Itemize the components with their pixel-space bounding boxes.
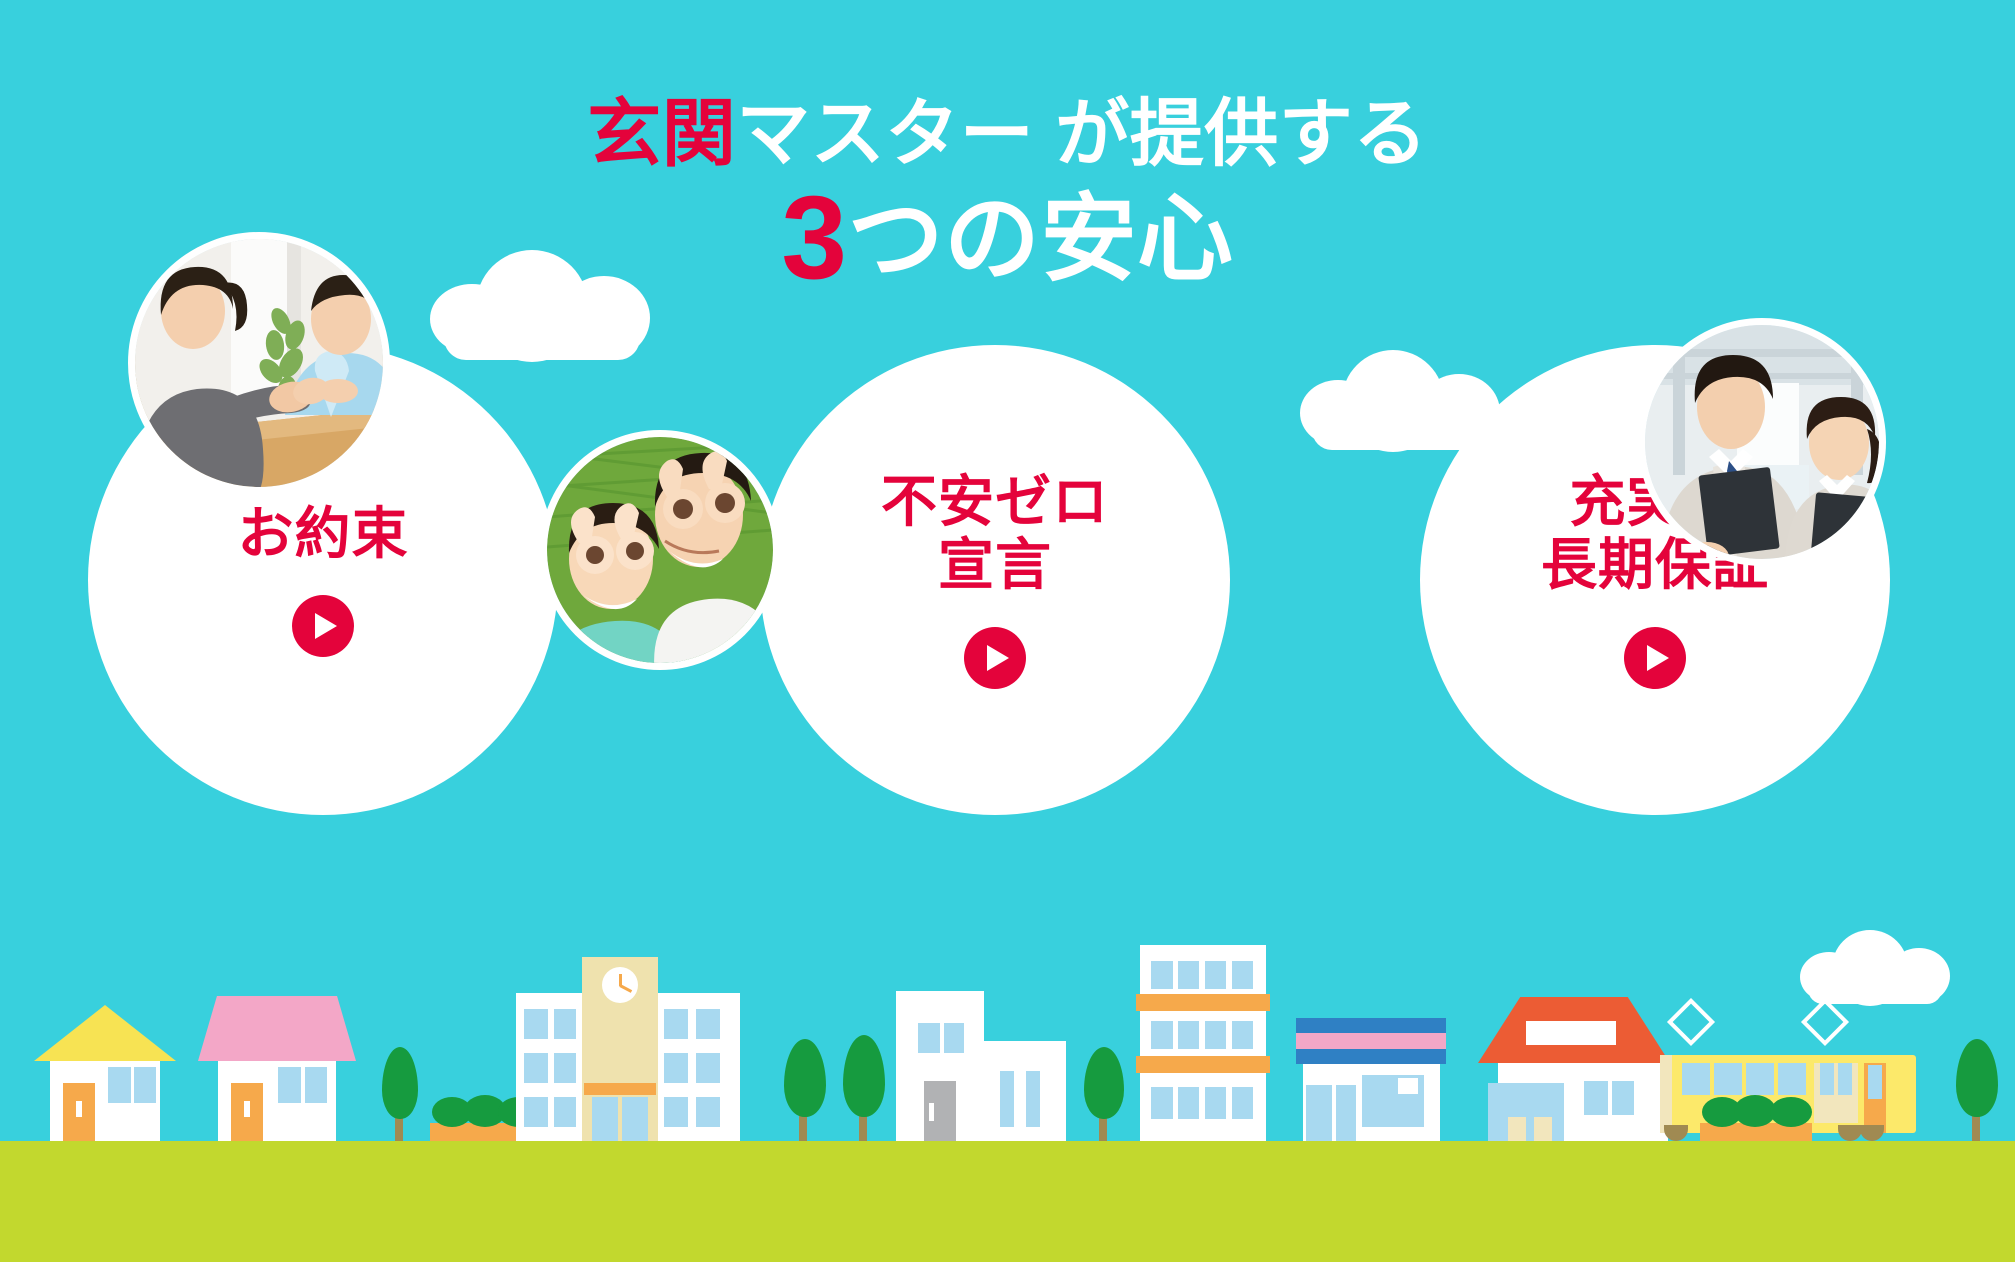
window [524,1053,548,1083]
window [1000,1071,1014,1127]
window [305,1067,327,1103]
door-handle [929,1103,934,1121]
door-handle [76,1101,82,1117]
floor-band [1136,1056,1270,1073]
awning-stripe-pink [1296,1033,1446,1049]
roof-trapezoid [198,996,356,1061]
entrance-door [592,1097,618,1141]
tree [1080,1031,1124,1141]
window [134,1067,156,1103]
tree [1952,1025,1998,1141]
feature-label-line2: 宣言 [881,534,1109,597]
house-yellow-roof [34,989,176,1141]
window [1151,1021,1173,1049]
house-pink-roof [198,991,356,1141]
display-sign [1398,1078,1418,1094]
family-photo-illustration [547,437,773,663]
window [1205,1087,1226,1119]
window [918,1023,940,1053]
window [1205,1021,1226,1049]
window [1232,1087,1253,1119]
window [1151,1087,1173,1119]
window [1026,1071,1040,1127]
play-icon-promise[interactable] [292,595,354,657]
staff-photo-illustration [1645,325,1879,559]
play-icon-long-warranty[interactable] [1624,627,1686,689]
photo-family-children [540,430,780,670]
tree-crown [382,1047,418,1119]
play-icon-zero-anxiety[interactable] [964,627,1026,689]
bush [1770,1097,1812,1127]
headline-anshin: 安心 [1041,186,1234,293]
tram-wheel [1860,1125,1884,1141]
window [108,1067,131,1103]
window [944,1023,964,1053]
door-handle [244,1101,250,1117]
tram-wheel [1664,1125,1688,1141]
window [1205,961,1226,989]
window [1612,1081,1634,1115]
window [554,1053,576,1083]
floor-band [1136,994,1270,1011]
play-triangle-icon [987,645,1009,671]
window [278,1067,301,1103]
feature-label-line1: お約束 [238,503,409,566]
office-wing [980,1041,1066,1141]
garage-panel [1534,1117,1552,1141]
window [664,1009,688,1039]
tree [780,1026,824,1141]
house-orange-roof [1478,991,1670,1141]
window [696,1009,720,1039]
awning-stripe-blue [1296,1018,1446,1033]
headline-number: 3 [781,172,847,304]
play-triangle-icon [1647,645,1669,671]
photo-inner [547,437,773,663]
entrance-awning [584,1083,656,1095]
cloud-icon-right [1800,930,1950,1004]
tree-crown [1956,1039,1998,1117]
window [664,1053,688,1083]
feature-label-promise: お約束 [238,503,409,566]
tram-wheel [1838,1125,1862,1141]
window [524,1097,548,1127]
window [664,1097,688,1127]
headline-line1-rest: マスター が提供する [736,92,1428,175]
roof-sign [1526,1021,1616,1045]
tram-window [1820,1063,1834,1095]
headline: 玄関マスター が提供する 3つの安心 [0,95,2015,301]
tree-crown [784,1039,826,1117]
entrance-door [622,1097,648,1141]
window [1178,1087,1199,1119]
awning-stripe-blue [1296,1049,1446,1064]
white-office-building [896,989,1066,1141]
feature-label-line1: 不安ゼロ [881,471,1109,534]
ground-strip [0,1141,2015,1262]
photo-inner [1645,325,1879,559]
window [554,1097,576,1127]
tree-crown [1084,1047,1124,1119]
pantograph-icon [1801,998,1849,1046]
window [1584,1081,1608,1115]
clock-hand-minute [619,984,632,993]
feature-label-zero-anxiety: 不安ゼロ 宣言 [881,471,1109,596]
feature-bubble-zero-anxiety[interactable]: 不安ゼロ 宣言 [760,345,1230,815]
window [554,1009,576,1039]
store-window [1306,1085,1332,1141]
headline-line-2: 3つの安心 [0,177,2015,301]
roof-triangle [34,1005,176,1061]
tram-front-panel [1660,1055,1672,1133]
tree-crown [843,1035,885,1117]
window [1178,1021,1199,1049]
garage-panel [1508,1117,1526,1141]
storefront-shop [1296,1015,1440,1141]
photo-staff-engineers [1638,318,1886,566]
window [1232,961,1253,989]
hedge-planter [1700,1089,1812,1141]
school-with-clock [516,941,740,1141]
three-floor-shop [1140,945,1266,1141]
tram-window [1838,1063,1852,1095]
window [1178,961,1199,989]
banner-stage: 玄関マスター が提供する 3つの安心 お約束 不安ゼロ 宣言 充実の 長期保証 [0,0,2015,1262]
headline-line-1: 玄関マスター が提供する [0,95,2015,173]
headline-brand: 玄関 [587,92,736,175]
window [1151,961,1173,989]
window [696,1097,720,1127]
window [1232,1021,1253,1049]
window [524,1009,548,1039]
store-window [1336,1085,1356,1141]
tree [378,1031,418,1141]
clock-face [602,967,638,1003]
play-triangle-icon [315,613,337,639]
garage-window [1488,1083,1564,1141]
headline-counter: つの [848,186,1041,293]
window [696,1053,720,1083]
pantograph-icon [1667,998,1715,1046]
tree [840,1021,884,1141]
tram-window [1868,1065,1882,1099]
